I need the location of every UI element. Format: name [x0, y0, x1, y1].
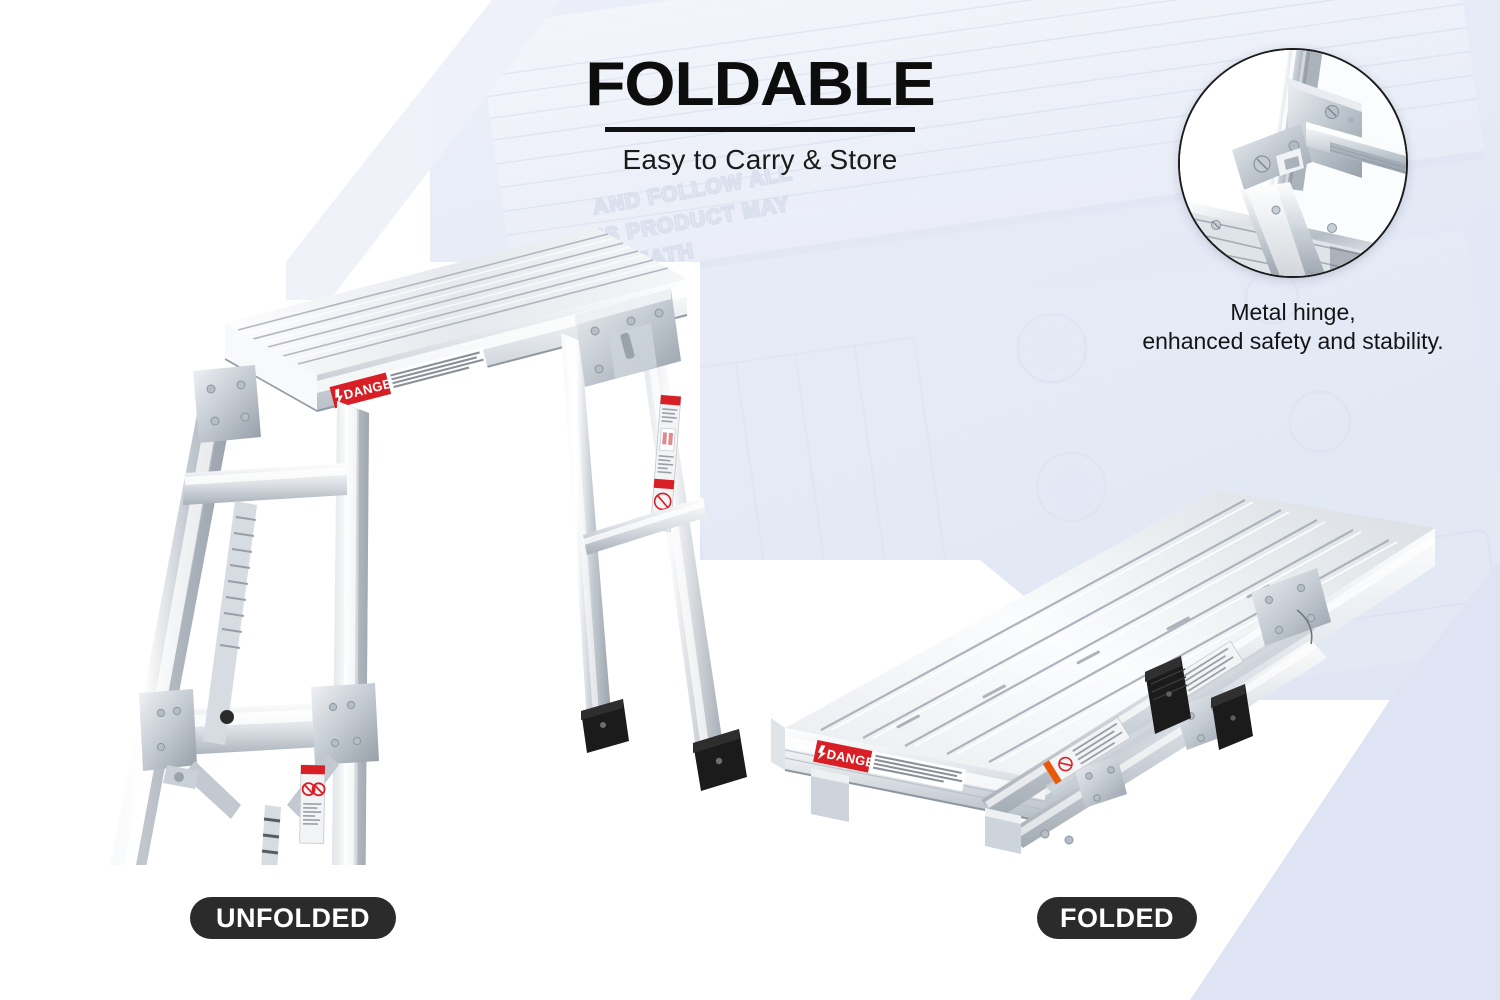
- badge-folded: FOLDED: [1037, 897, 1197, 939]
- banner-canvas: AND FOLLOW ALL IS PRODUCT MAY DEATH: [0, 0, 1500, 1000]
- feature-inset: Metal hinge, enhanced safety and stabili…: [1178, 48, 1408, 330]
- badge-unfolded-label: UNFOLDED: [216, 903, 370, 934]
- title-divider: [605, 127, 915, 132]
- feature-caption: Metal hinge, enhanced safety and stabili…: [1088, 298, 1498, 357]
- product-image-unfolded: DANGER: [75, 205, 785, 865]
- product-image-folded: DANGER: [745, 450, 1465, 870]
- badge-unfolded: UNFOLDED: [190, 897, 396, 939]
- headline-block: FOLDABLE Easy to Carry & Store: [560, 52, 960, 176]
- feature-caption-line-1: Metal hinge,: [1088, 298, 1498, 327]
- badge-folded-label: FOLDED: [1060, 903, 1174, 934]
- page-subtitle: Easy to Carry & Store: [560, 144, 960, 176]
- hinge-closeup-icon: [1178, 48, 1408, 278]
- page-title: FOLDABLE: [548, 52, 972, 117]
- feature-caption-line-2: enhanced safety and stability.: [1088, 327, 1498, 356]
